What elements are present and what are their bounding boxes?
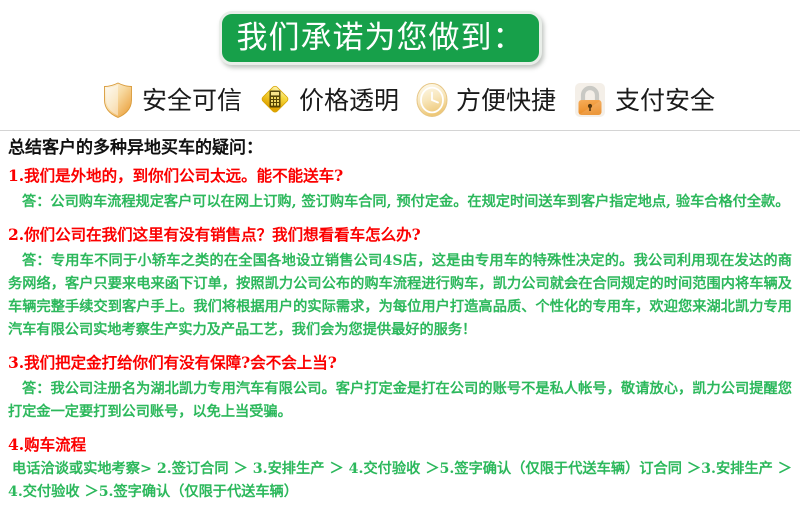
- feature-label-convenience: 方便快捷: [456, 88, 556, 113]
- promise-header: 我们承诺为您做到：: [0, 0, 800, 72]
- faq-heading: 总结客户的多种异地买车的疑问：: [8, 136, 792, 161]
- clock-icon: [415, 81, 449, 119]
- faq-question-2: 2.你们公司在我们这里有没有销售点？我们想看看车怎么办?: [8, 223, 792, 246]
- feature-payment-security: 支付安全: [572, 80, 715, 120]
- feature-row: 安全可信 价格透明: [0, 72, 800, 128]
- promise-banner-title: 我们承诺为您做到：: [237, 23, 525, 54]
- lock-icon: [572, 80, 608, 120]
- feature-convenience: 方便快捷: [415, 81, 556, 119]
- feature-label-payment-security: 支付安全: [615, 88, 715, 113]
- faq-question-3: 3.我们把定金打给你们有没有保障?会不会上当?: [8, 351, 792, 374]
- faq-answer-2: 答：专用车不同于小轿车之类的在全国各地设立销售公司4S店，这是由专用车的特殊性决…: [8, 250, 792, 342]
- faq-question-1: 1.我们是外地的，到你们公司太远。能不能送车?: [8, 164, 792, 187]
- purchase-process-steps: 电话洽谈或实地考察> 2.签订合同 ＞ 3.安排生产 ＞ 4.交付验收 ＞5.签…: [8, 458, 792, 504]
- shield-icon: [101, 81, 135, 119]
- feature-price: 价格透明: [258, 81, 399, 119]
- feature-label-security: 安全可信: [142, 88, 242, 113]
- promise-banner: 我们承诺为您做到：: [219, 11, 542, 65]
- faq-answer-1: 答：公司购车流程规定客户可以在网上订购, 签订购车合同, 预付定金。在规定时间送…: [8, 191, 792, 214]
- feature-security: 安全可信: [101, 81, 242, 119]
- purchase-process-heading: 4.购车流程: [8, 433, 792, 456]
- feature-label-price: 价格透明: [299, 88, 399, 113]
- calculator-icon: [258, 81, 292, 119]
- faq-answer-3: 答：我公司注册名为湖北凯力专用汽车有限公司。客户打定金是打在公司的账号不是私人帐…: [8, 378, 792, 424]
- faq-section: 总结客户的多种异地买车的疑问： 1.我们是外地的，到你们公司太远。能不能送车? …: [0, 131, 800, 504]
